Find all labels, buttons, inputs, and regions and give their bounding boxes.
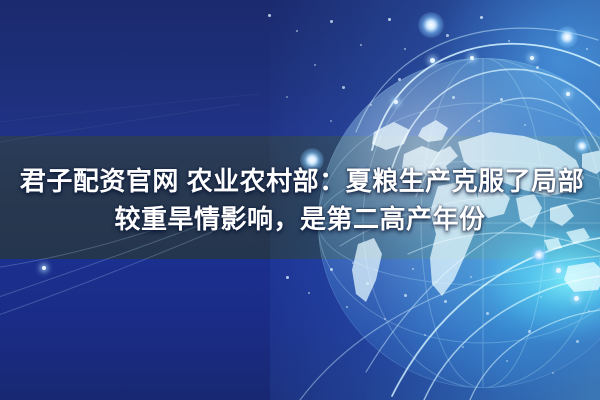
particle-dot [404, 294, 407, 297]
glow-star [530, 246, 548, 264]
particle-dot [424, 334, 426, 336]
network-node [566, 92, 570, 96]
particle-dot [486, 312, 489, 315]
particle-dot [366, 282, 369, 285]
particle-dot [446, 34, 449, 37]
particle-dot [330, 268, 333, 271]
particle-dot [588, 310, 590, 312]
particle-dot [586, 48, 588, 50]
particle-dot [536, 66, 539, 69]
particle-dot [576, 340, 579, 343]
particle-dot [412, 268, 414, 270]
particle-dot [420, 112, 422, 114]
network-node [574, 296, 579, 301]
headline-line-2: 较重旱情影响，是第二高产年份 [0, 200, 600, 238]
particle-dot [388, 18, 391, 21]
headline-text: 君子配资官网 农业农村部：夏粮生产克服了局部 较重旱情影响，是第二高产年份 [0, 162, 600, 238]
particle-dot [352, 262, 354, 264]
particle-dot [346, 306, 348, 308]
particle-dot [330, 120, 332, 122]
particle-dot [552, 372, 554, 374]
network-node [42, 266, 46, 270]
particle-dot [384, 318, 386, 320]
network-node [394, 100, 398, 104]
particle-dot [404, 48, 406, 50]
particle-dot [480, 16, 483, 19]
network-node [470, 56, 474, 60]
particle-dot [462, 346, 464, 348]
particle-dot [398, 78, 401, 81]
glow-star [574, 138, 590, 154]
particle-dot [478, 120, 480, 122]
particle-dot [540, 296, 542, 298]
particle-dot [286, 96, 288, 98]
particle-dot [506, 360, 508, 362]
particle-dot [286, 276, 289, 279]
particle-dot [268, 14, 271, 17]
headline-line-1: 君子配资官网 农业农村部：夏粮生产克服了局部 [0, 162, 600, 200]
particle-dot [314, 64, 316, 66]
news-banner-image: 君子配资官网 农业农村部：夏粮生产克服了局部 较重旱情影响，是第二高产年份 [0, 0, 600, 400]
particle-dot [524, 124, 526, 126]
particle-dot [342, 86, 345, 89]
glow-star [418, 12, 444, 38]
network-node [430, 58, 435, 63]
particle-dot [444, 300, 447, 303]
particle-dot [330, 20, 333, 23]
particle-dot [452, 96, 455, 99]
particle-dot [500, 98, 503, 101]
particle-dot [296, 30, 298, 32]
particle-dot [370, 104, 372, 106]
particle-dot [360, 44, 362, 46]
particle-dot [470, 276, 472, 278]
particle-dot [508, 40, 510, 42]
particle-dot [308, 292, 310, 294]
particle-dot [528, 330, 531, 333]
glow-star [556, 26, 578, 48]
network-node [530, 56, 534, 60]
network-node [556, 268, 561, 273]
